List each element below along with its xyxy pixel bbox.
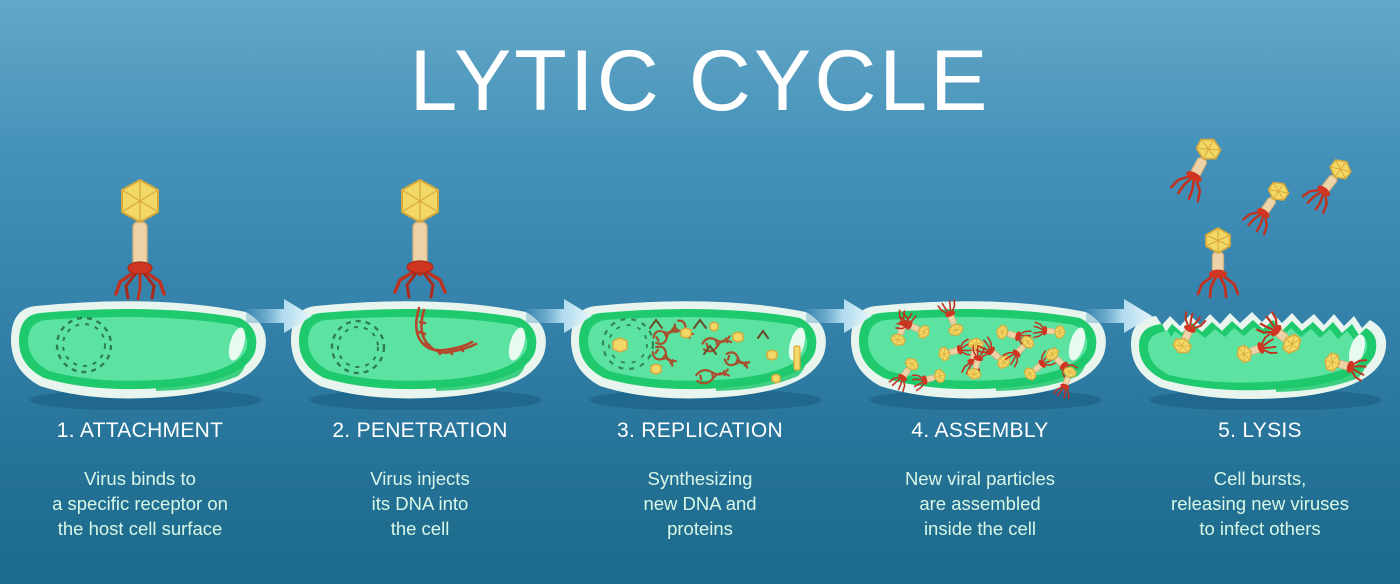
bacterium-cell-3	[566, 292, 834, 410]
steps-row: 1. ATTACHMENT Virus binds to a specific …	[0, 120, 1400, 580]
scene-attachment	[0, 120, 280, 410]
phage-baseplate-icon	[128, 262, 152, 274]
bacterium-cell-2	[286, 292, 554, 410]
page-title: LYTIC CYCLE	[0, 38, 1400, 124]
step-desc-lysis: Cell bursts, releasing new viruses to in…	[1171, 466, 1349, 541]
step-assembly: 4. ASSEMBLY New viral particles are asse…	[840, 120, 1120, 580]
step-penetration: 2. PENETRATION Virus injects its DNA int…	[280, 120, 560, 580]
phage-injecting	[384, 172, 456, 307]
phage-released-3	[1302, 142, 1392, 247]
bacterium-cell-4	[846, 292, 1114, 410]
step-desc-replication: Synthesizing new DNA and proteins	[643, 466, 756, 541]
scene-replication	[560, 120, 840, 410]
step-desc-attachment: Virus binds to a specific receptor on th…	[52, 466, 228, 541]
step-attachment: 1. ATTACHMENT Virus binds to a specific …	[0, 120, 280, 580]
step-desc-assembly: New viral particles are assembled inside…	[905, 466, 1055, 541]
step-label-penetration: 2. PENETRATION	[332, 418, 507, 444]
step-label-lysis: 5. LYSIS	[1218, 418, 1302, 444]
step-desc-penetration: Virus injects its DNA into the cell	[370, 466, 469, 541]
scene-assembly	[840, 120, 1120, 410]
protein-sheath-part	[794, 346, 800, 370]
step-lysis: 5. LYSIS Cell bursts, releasing new viru…	[1120, 120, 1400, 580]
phage-head-icon	[402, 180, 438, 222]
bacterium-cell-5-lysed	[1126, 292, 1394, 410]
scene-lysis	[1120, 120, 1400, 410]
step-replication: 3. REPLICATION Synthesizing new DNA and …	[560, 120, 840, 580]
step-label-assembly: 4. ASSEMBLY	[911, 418, 1048, 444]
phage-head-icon	[122, 180, 158, 222]
phage-baseplate-icon	[407, 261, 433, 273]
bacterium-cell-1	[6, 292, 274, 410]
scene-penetration	[280, 120, 560, 410]
phage-attached	[104, 172, 176, 307]
step-label-replication: 3. REPLICATION	[617, 418, 783, 444]
lytic-cycle-diagram: LYTIC CYCLE	[0, 0, 1400, 584]
step-label-attachment: 1. ATTACHMENT	[57, 418, 223, 444]
